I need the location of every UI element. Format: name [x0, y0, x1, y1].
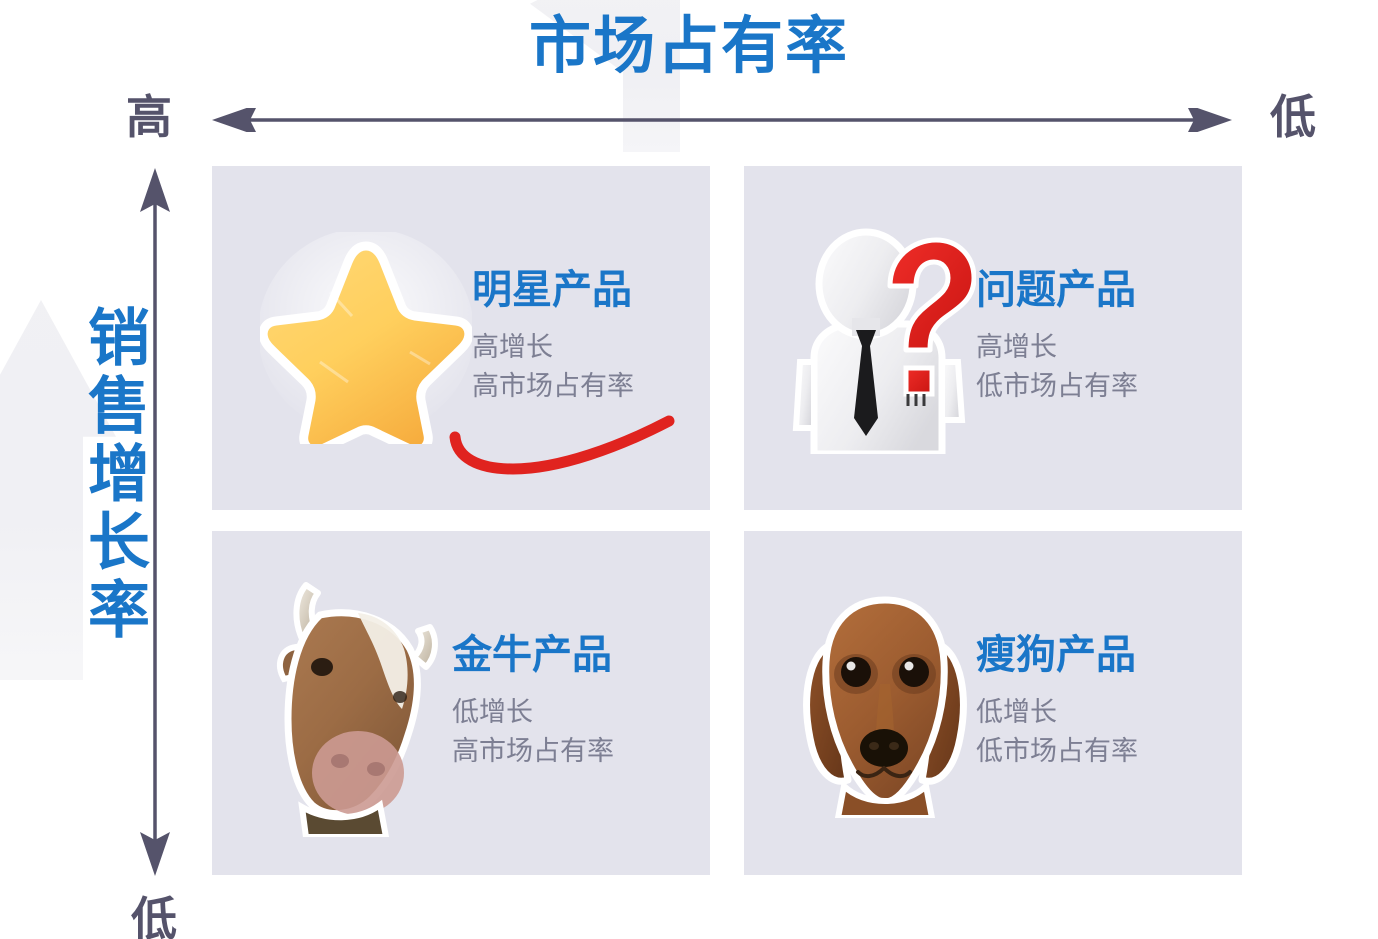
quadrant-dog-art	[744, 588, 976, 818]
quadrant-question-line1: 高增长	[976, 328, 1242, 367]
quadrant-star-title: 明星产品	[472, 270, 710, 310]
horizontal-axis-arrow-icon	[212, 108, 1232, 132]
quadrant-question[interactable]: 问题产品 高增长 低市场占有率	[744, 166, 1242, 510]
quadrant-star[interactable]: 明星产品 高增长 高市场占有率	[212, 166, 710, 510]
sales-growth-axis-title: 销售增长率	[36, 305, 146, 645]
market-share-high-label: 高	[126, 95, 172, 141]
quadrant-cash-cow-text: 金牛产品 低增长 高市场占有率	[452, 635, 710, 771]
quadrant-dog-line1: 低增长	[976, 693, 1242, 732]
quadrant-dog-line2: 低市场占有率	[976, 732, 1242, 771]
quadrant-question-art	[744, 222, 976, 454]
quadrant-cash-cow-line1: 低增长	[452, 693, 710, 732]
quadrant-dog[interactable]: 瘦狗产品 低增长 低市场占有率	[744, 531, 1242, 875]
matrix-grid: 明星产品 高增长 高市场占有率	[212, 166, 1242, 875]
quadrant-dog-text: 瘦狗产品 低增长 低市场占有率	[976, 635, 1242, 771]
star-icon	[260, 232, 472, 444]
bcg-matrix-diagram: 市场占有率 销售增长率 高 低 低	[0, 0, 1378, 939]
sales-growth-low-label: 低	[131, 897, 177, 939]
question-mark-person-icon	[790, 222, 976, 454]
quadrant-cash-cow-art	[212, 569, 452, 837]
quadrant-question-text: 问题产品 高增长 低市场占有率	[976, 270, 1242, 406]
quadrant-cash-cow[interactable]: 金牛产品 低增长 高市场占有率	[212, 531, 710, 875]
vertical-axis-arrow-icon	[140, 168, 170, 876]
market-share-axis-title: 市场占有率	[0, 16, 1378, 78]
quadrant-dog-title: 瘦狗产品	[976, 635, 1242, 675]
quadrant-star-art	[212, 232, 472, 444]
quadrant-cash-cow-line2: 高市场占有率	[452, 732, 710, 771]
quadrant-question-title: 问题产品	[976, 270, 1242, 310]
quadrant-cash-cow-title: 金牛产品	[452, 635, 710, 675]
quadrant-star-text: 明星产品 高增长 高市场占有率	[472, 270, 710, 406]
cow-icon	[262, 569, 452, 837]
quadrant-star-line1: 高增长	[472, 328, 710, 367]
market-share-low-label: 低	[1270, 95, 1316, 141]
quadrant-question-line2: 低市场占有率	[976, 367, 1242, 406]
dog-icon	[794, 588, 976, 818]
quadrant-star-line2: 高市场占有率	[472, 367, 710, 406]
